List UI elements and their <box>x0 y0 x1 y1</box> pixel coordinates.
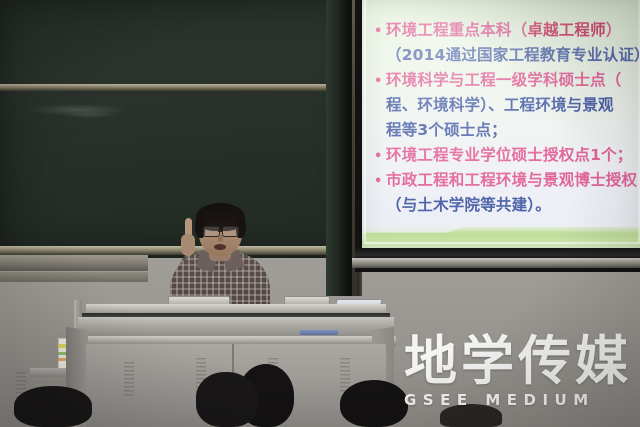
chalk-smudge <box>60 112 120 118</box>
watermark-english: GSEE MEDIUM <box>404 391 636 409</box>
slide-text-segment: （与土木学院等共建）。 <box>386 196 551 214</box>
slide-text-segment: 环境工程专业学位硕士授权点1个； <box>386 146 633 164</box>
bullet-marker-icon: • <box>374 169 383 194</box>
bullet-marker-icon: • <box>374 69 383 94</box>
slide-text-segment: 市政工程和工程环境与景观博士授权 <box>386 171 637 189</box>
speaker-hand <box>181 234 195 256</box>
slide-text-segment: 环境工程重点本科（ <box>386 21 527 39</box>
lecture-photo: •环境工程重点本科（卓越工程师）（2014通过国家工程教育专业认证）•环境科学与… <box>0 0 640 427</box>
blackboard <box>0 0 360 258</box>
watermark: 地学传媒 GSEE MEDIUM <box>404 334 636 409</box>
slide-bullet-subline: 程、环境科学）、工程环境与景观 <box>372 93 640 118</box>
screen-roller-bar <box>352 258 640 268</box>
slide-bullet-subline: （2014通过国家工程教育专业认证） <box>372 43 640 68</box>
student-head <box>14 386 92 427</box>
slide-bullet-line: •环境工程重点本科（卓越工程师） <box>372 18 640 43</box>
blackboard-chalk-tray <box>0 246 360 255</box>
slide-text-segment: ） <box>606 21 622 39</box>
blackboard-rail <box>0 84 360 91</box>
speaker-mouth <box>214 244 226 250</box>
speaker-glasses-right-lens <box>222 226 239 237</box>
slide-text-segment: 程、环境科学）、工程环境与景观 <box>386 96 614 114</box>
bullet-marker-icon: • <box>374 19 383 44</box>
bullet-marker-icon: • <box>374 144 383 169</box>
slide-text-segment: 程等3个硕士点； <box>386 121 507 139</box>
slide-text-segment: 卓越工程师 <box>527 21 606 39</box>
slide-text-body: •环境工程重点本科（卓越工程师）（2014通过国家工程教育专业认证）•环境科学与… <box>372 18 640 218</box>
student-head <box>196 372 258 427</box>
podium-vent <box>124 362 134 396</box>
slide-text-segment: （2014通过国家工程教育专业认证） <box>386 46 640 64</box>
slide-bullet-line: •环境科学与工程一级学科硕士点（ <box>372 68 640 93</box>
student-head <box>340 380 408 427</box>
slide-bullet-subline: （与土木学院等共建）。 <box>372 193 640 218</box>
slide-bullet-line: •市政工程和工程环境与景观博士授权 <box>372 168 640 193</box>
blue-folder <box>300 330 338 335</box>
slide-text-segment: 环境科学与工程一级学科硕士点（ <box>386 71 622 89</box>
speaker-glasses-bridge <box>218 230 222 232</box>
blackboard-shelf-lower <box>0 272 148 282</box>
speaker-nose <box>218 235 223 242</box>
slide-bullet-subline: 程等3个硕士点； <box>372 118 640 143</box>
slide-bullet-line: •环境工程专业学位硕士授权点1个； <box>372 143 640 168</box>
blackboard-shelf <box>0 255 148 271</box>
watermark-chinese: 地学传媒 <box>404 334 636 390</box>
